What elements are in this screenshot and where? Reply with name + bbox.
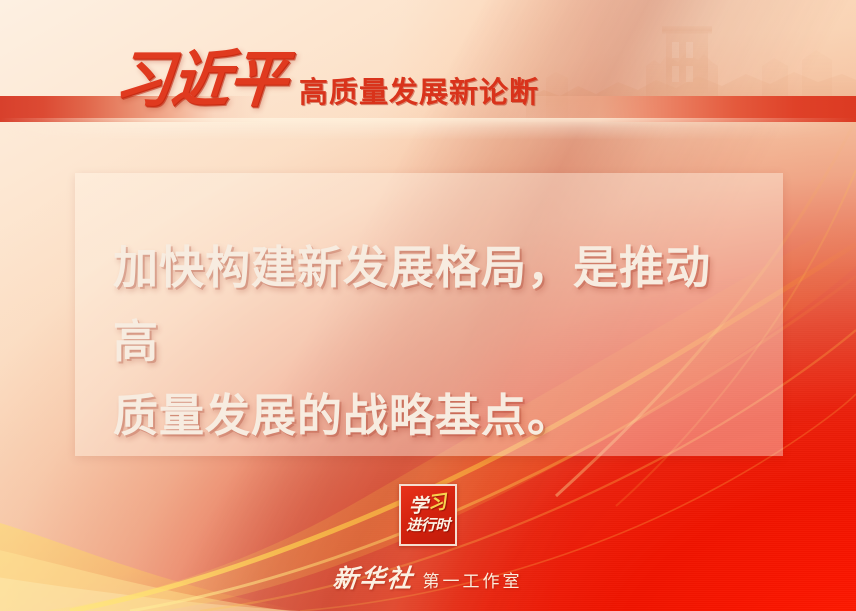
poster-root: 习近平 高质量发展新论断 加快构建新发展格局，是推动高 质量发展的战略基点。 学… (0, 0, 856, 611)
footer: 学 习 进行时 新华社 第一工作室 (0, 484, 856, 595)
logo-bottom-row: 进行时 (406, 518, 450, 533)
brand-subtitle: 高质量发展新论断 (299, 78, 539, 112)
logo-inner: 学 习 进行时 (403, 488, 453, 542)
header-band-glow (0, 118, 856, 140)
logo-char-xi: 习 (426, 493, 447, 514)
footer-agency: 新华社 第一工作室 (333, 559, 522, 595)
logo-top-row: 学 习 (409, 497, 447, 516)
quote-card: 加快构建新发展格局，是推动高 质量发展的战略基点。 (75, 173, 783, 456)
quote-text: 加快构建新发展格局，是推动高 质量发展的战略基点。 (113, 231, 753, 453)
agency-name: 新华社 (332, 559, 417, 595)
brand-name: 习近平 (112, 48, 289, 112)
xuexi-jinxingshi-logo[interactable]: 学 习 进行时 (399, 484, 457, 546)
agency-studio: 第一工作室 (423, 567, 523, 592)
header: 习近平 高质量发展新论断 (112, 52, 539, 112)
logo-char-xue: 学 (409, 497, 428, 516)
